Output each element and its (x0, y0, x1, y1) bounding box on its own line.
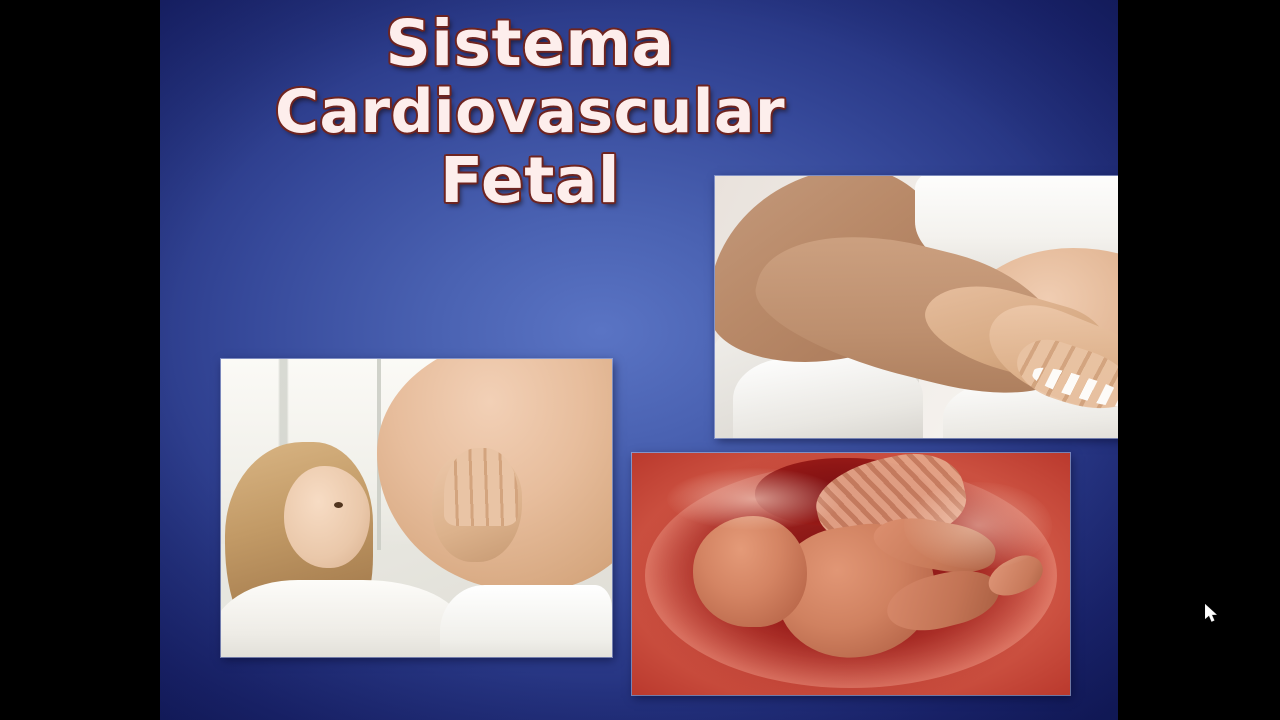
child-face (284, 466, 370, 567)
child-shirt (221, 580, 463, 657)
child-fingers (444, 448, 518, 525)
screen: Sistema Cardiovascular Fetal (0, 0, 1280, 720)
image-fetus-in-womb (632, 453, 1070, 695)
page-title: Sistema Cardiovascular Fetal (160, 12, 900, 220)
fetus-head (693, 516, 807, 627)
title-line-fetal: Fetal (160, 149, 900, 213)
image-child-kissing-belly (221, 359, 612, 657)
arrow-pointer-icon (1205, 604, 1219, 624)
mother-lower-shirt (440, 585, 612, 657)
presentation-slide[interactable]: Sistema Cardiovascular Fetal (160, 0, 1118, 720)
light-highlight-right (904, 482, 1053, 569)
light-highlight-left (667, 468, 842, 531)
title-line-cardiovascular: Cardiovascular (160, 82, 900, 143)
title-line-sistema: Sistema (160, 12, 900, 76)
